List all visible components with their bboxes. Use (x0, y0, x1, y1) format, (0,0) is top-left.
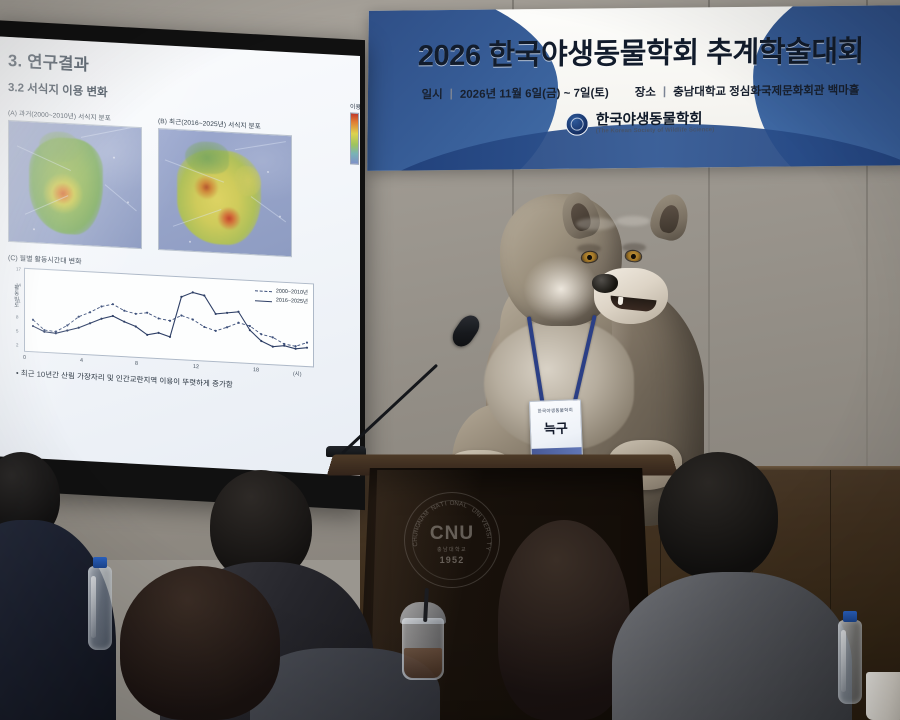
banner-venue: 장소 | 충남대학교 정심화국제문화회관 백마홀 (635, 82, 860, 100)
wolf-head (500, 194, 622, 326)
drink-liquid (404, 648, 442, 678)
chart-xtick: 4 (80, 358, 83, 364)
banner-date-label: 일시 (421, 86, 442, 102)
banner-venue-label: 장소 (635, 84, 656, 100)
name-badge: 한국야생동물학회 늑구 (529, 399, 583, 463)
projection-screen: 3. 연구결과 3.2 서식지 이용 변화 (A) 과거(2000~2010년)… (0, 36, 360, 476)
wolf-nose (592, 274, 618, 293)
paper-cup (866, 672, 900, 720)
chart-xtick: 18 (253, 367, 259, 373)
society-name-kr: 한국야생동물학회 (596, 111, 715, 128)
society-seal-icon (566, 113, 589, 136)
emblem-korean-name: 충남대학교 (405, 546, 499, 553)
chart-xtick: 8 (135, 361, 138, 367)
presentation-slide: 3. 연구결과 3.2 서식지 이용 변화 (A) 과거(2000~2010년)… (8, 47, 348, 396)
emblem-abbreviation: CNU (405, 523, 499, 545)
wolf-ear-left (556, 188, 603, 242)
chart-xaxis-unit: (시) (293, 369, 302, 377)
activity-time-chart: 활동빈도 17 14 11 8 5 2 2000~2010년 2016~2025… (24, 268, 314, 368)
audience-head (120, 566, 280, 720)
audience-head (498, 520, 630, 720)
chart-ytick: 17 (16, 266, 21, 271)
divider: | (663, 86, 666, 98)
emblem-founding-year: 1952 (405, 555, 499, 565)
legend-dashed-swatch (255, 290, 272, 292)
conference-room-scene: 2026 한국야생동물학회 추계학술대회 일시 | 2026년 11월 6일(금… (0, 0, 900, 720)
badge-organization: 한국야생동물학회 (537, 407, 573, 414)
chart-ytick: 5 (16, 328, 18, 333)
colorbar-title: 이용률 (350, 101, 360, 112)
chart-xtick: 12 (193, 364, 199, 370)
legend-label-recent: 2016~2025년 (276, 297, 308, 308)
wolf-ear-right (647, 190, 693, 243)
chart-ytick: 14 (16, 282, 21, 287)
colorbar-gradient (350, 112, 359, 164)
water-bottle (838, 620, 862, 704)
banner-venue-value: 충남대학교 정심화국제문화회관 백마홀 (673, 82, 859, 100)
university-emblem: CHUNGNAM NATIONAL UNIVERSITY CNU 충남대학교 1… (404, 492, 500, 588)
banner-organization: 한국야생동물학회 (The Korean Society of Wildlife… (384, 109, 897, 137)
banner-meta: 일시 | 2026년 11월 6일(금) ~ 7일(토) 장소 | 충남대학교 … (384, 81, 897, 102)
habitat-map-past (8, 120, 142, 249)
wolf-eye-left (581, 251, 597, 263)
legend-solid-swatch (255, 300, 272, 302)
chart-xtick: 0 (23, 355, 26, 361)
society-name-en: (The Korean Society of Wildlife Science) (596, 127, 715, 135)
audience-head (658, 452, 778, 580)
chart-legend: 2000~2010년 2016~2025년 (255, 286, 308, 308)
conference-banner: 2026 한국야생동물학회 추계학술대회 일시 | 2026년 11월 6일(금… (367, 5, 900, 171)
divider: | (450, 88, 453, 100)
habitat-map-pair: 이용률 높음 낮음 (8, 120, 348, 260)
habitat-colorbar: 이용률 높음 낮음 (350, 101, 360, 166)
habitat-map-recent (158, 128, 292, 257)
chart-ylabel: 활동빈도 (12, 284, 18, 308)
water-bottle (88, 566, 112, 650)
banner-date-value: 2026년 11월 6일(금) ~ 7일(토) (460, 84, 609, 102)
banner-title: 2026 한국야생동물학회 추계학술대회 (384, 27, 897, 74)
chart-ytick: 2 (16, 342, 18, 347)
badge-speaker-name: 늑구 (544, 418, 569, 438)
chart-plot-area (25, 269, 315, 369)
banner-date: 일시 | 2026년 11월 6일(금) ~ 7일(토) (421, 84, 608, 102)
wolf-eye-right (625, 250, 641, 262)
chart-ytick: 11 (16, 298, 21, 303)
chart-ytick: 8 (16, 314, 18, 319)
